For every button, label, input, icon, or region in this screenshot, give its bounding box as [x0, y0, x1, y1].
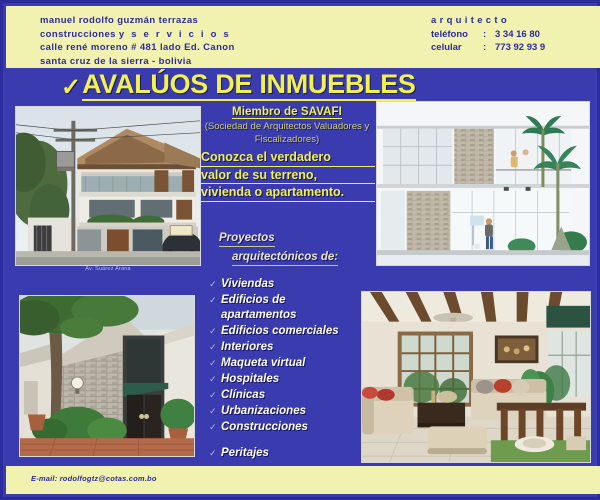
savafi-membership: Miembro de SAVAFI	[232, 106, 342, 119]
check-icon: ✓	[209, 324, 221, 339]
list-item-label: Viviendas	[221, 277, 274, 292]
photo-architectural-rendering	[376, 101, 590, 266]
photo-house-entrance	[19, 295, 195, 457]
profession-contact-block: arquitecto teléfono : 3 34 16 80 celular…	[431, 14, 545, 55]
pitch-line-3: vivienda o apartamento.	[201, 184, 375, 202]
list-item: ✓ Viviendas	[209, 277, 369, 292]
mobile-row: celular : 773 92 93 9	[431, 41, 545, 55]
photo-living-room-interior	[361, 291, 591, 463]
check-icon: ✓	[209, 420, 221, 435]
phone-separator: :	[483, 28, 495, 42]
check-icon: ✓	[209, 404, 221, 419]
architectural-elevation-illustration	[377, 102, 589, 265]
list-item: ✓ Clínicas	[209, 388, 369, 403]
list-item-label: Urbanizaciones	[221, 404, 306, 419]
check-icon: ✓	[209, 372, 221, 387]
check-icon: ✓	[209, 293, 221, 308]
profession-title: arquitecto	[431, 14, 545, 28]
mobile-label: celular	[431, 41, 483, 55]
house-entrance-illustration	[20, 296, 194, 456]
check-icon: ✓	[209, 388, 221, 403]
mobile-value: 773 92 93 9	[495, 41, 545, 55]
phone-label: teléfono	[431, 28, 483, 42]
footer-band: E-mail: rodolfogtz@cotas.com.bo	[6, 466, 600, 494]
page-title-text: AVALÚOS DE INMUEBLES	[82, 70, 416, 101]
list-item: ✓ Edificios de apartamentos	[209, 293, 369, 323]
list-item-label: Clínicas	[221, 388, 265, 403]
check-icon: ✓	[209, 340, 221, 355]
list-item-label: Maqueta virtual	[221, 356, 305, 371]
value-pitch: Conozca el verdadero valor de su terreno…	[199, 149, 375, 202]
pitch-line-1: Conozca el verdadero	[201, 149, 375, 167]
projects-heading: Proyectos arquitectónicos de:	[219, 228, 338, 266]
projects-list: ✓ Viviendas ✓ Edificios de apartamentos …	[209, 277, 369, 462]
list-item-label: Construcciones	[221, 420, 308, 435]
page-title: ✓ AVALÚOS DE INMUEBLES	[61, 69, 416, 101]
savafi-membership-expansion: (Sociedad de Arquitectos Valuadores y Fi…	[199, 121, 375, 146]
list-item: ✓ Hospitales	[209, 372, 369, 387]
company-city-country: santa cruz de la sierra - bolivia	[40, 55, 235, 69]
projects-heading-line-2: arquitectónicos de:	[232, 250, 338, 266]
pitch-line-2: valor de su terreno,	[201, 167, 375, 185]
list-item: ✓ Maqueta virtual	[209, 356, 369, 371]
photo-house-exterior	[15, 106, 201, 266]
list-item: ✓ Construcciones	[209, 420, 369, 435]
company-name: manuel rodolfo guzmán terrazas	[40, 14, 235, 28]
check-icon: ✓	[209, 277, 221, 292]
services-word: construcciones	[40, 29, 116, 40]
list-item-label: Hospitales	[221, 372, 279, 387]
savafi-block: Miembro de SAVAFI (Sociedad de Arquitect…	[199, 102, 375, 202]
company-contact-block: manuel rodolfo guzmán terrazas construcc…	[40, 14, 235, 68]
check-icon: ✓	[209, 446, 221, 461]
list-item: ✓ Urbanizaciones	[209, 404, 369, 419]
list-item: ✓ Interiores	[209, 340, 369, 355]
list-item-label: Peritajes	[221, 446, 269, 461]
services-word-spaced: y s e r v i c i o s	[119, 29, 231, 40]
phone-value: 3 34 16 80	[495, 28, 540, 42]
flyer-page: manuel rodolfo guzmán terrazas construcc…	[0, 0, 600, 500]
list-item-label: Edificios comerciales	[221, 324, 339, 339]
checkmark-icon: ✓	[61, 75, 81, 101]
list-item: ✓ Edificios comerciales	[209, 324, 369, 339]
company-services-line: construcciones y s e r v i c i o s	[40, 28, 235, 42]
living-room-illustration	[362, 292, 590, 462]
list-item-label: Edificios de apartamentos	[221, 293, 296, 323]
mobile-separator: :	[483, 41, 495, 55]
email-address[interactable]: E-mail: rodolfogtz@cotas.com.bo	[31, 474, 157, 483]
company-street-address: calle rené moreno # 481 lado Ed. Canon	[40, 41, 235, 55]
check-icon: ✓	[209, 356, 221, 371]
photo-house-caption: Av. Suárez Arana	[15, 266, 201, 272]
list-item: ✓ Peritajes	[209, 446, 369, 461]
list-item-label: Interiores	[221, 340, 273, 355]
projects-heading-line-1: Proyectos	[219, 231, 275, 247]
header-band: manuel rodolfo guzmán terrazas construcc…	[6, 6, 600, 68]
house-exterior-illustration	[16, 107, 200, 265]
phone-row: teléfono : 3 34 16 80	[431, 28, 545, 42]
